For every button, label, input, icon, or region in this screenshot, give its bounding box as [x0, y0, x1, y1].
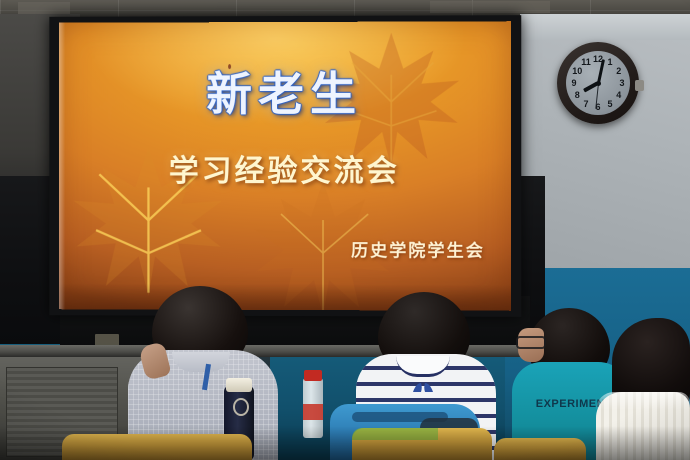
projection-screen: 新老生 学习经验交流会 历史学院学生会 [59, 21, 511, 311]
screen-vignette [59, 21, 511, 311]
chair-back [494, 438, 586, 460]
person-4-shoulder-highlight [596, 392, 690, 410]
bottle-ring-icon [233, 398, 249, 416]
classroom-photo: 新老生 学习经验交流会 历史学院学生会 121234567891011 [0, 0, 690, 460]
kappa-logo-icon [410, 378, 436, 389]
bottle-cap-icon [304, 370, 322, 381]
chair-back [62, 434, 252, 460]
clock-center-pin [596, 81, 601, 86]
ceiling-tile [430, 1, 550, 13]
screen-edge [59, 23, 65, 310]
clock-face: 121234567891011 [566, 51, 630, 115]
clock-numeral: 7 [579, 99, 593, 109]
clock-numeral: 8 [570, 90, 584, 100]
clock-numeral: 11 [579, 57, 593, 67]
clock-numeral: 5 [603, 99, 617, 109]
wall-clock: 121234567891011 [557, 42, 639, 124]
clock-knob [635, 80, 644, 91]
clock-numeral: 6 [591, 102, 605, 112]
clock-numeral: 2 [612, 66, 626, 76]
bottle-label [303, 404, 323, 420]
clock-numeral: 9 [567, 78, 581, 88]
clock-numeral: 3 [615, 78, 629, 88]
wall-upper-highlight [520, 14, 690, 40]
chair-accent [352, 428, 438, 440]
eyeglasses-icon [516, 336, 546, 349]
bottle-cap-icon [226, 378, 252, 392]
clock-numeral: 10 [570, 66, 584, 76]
